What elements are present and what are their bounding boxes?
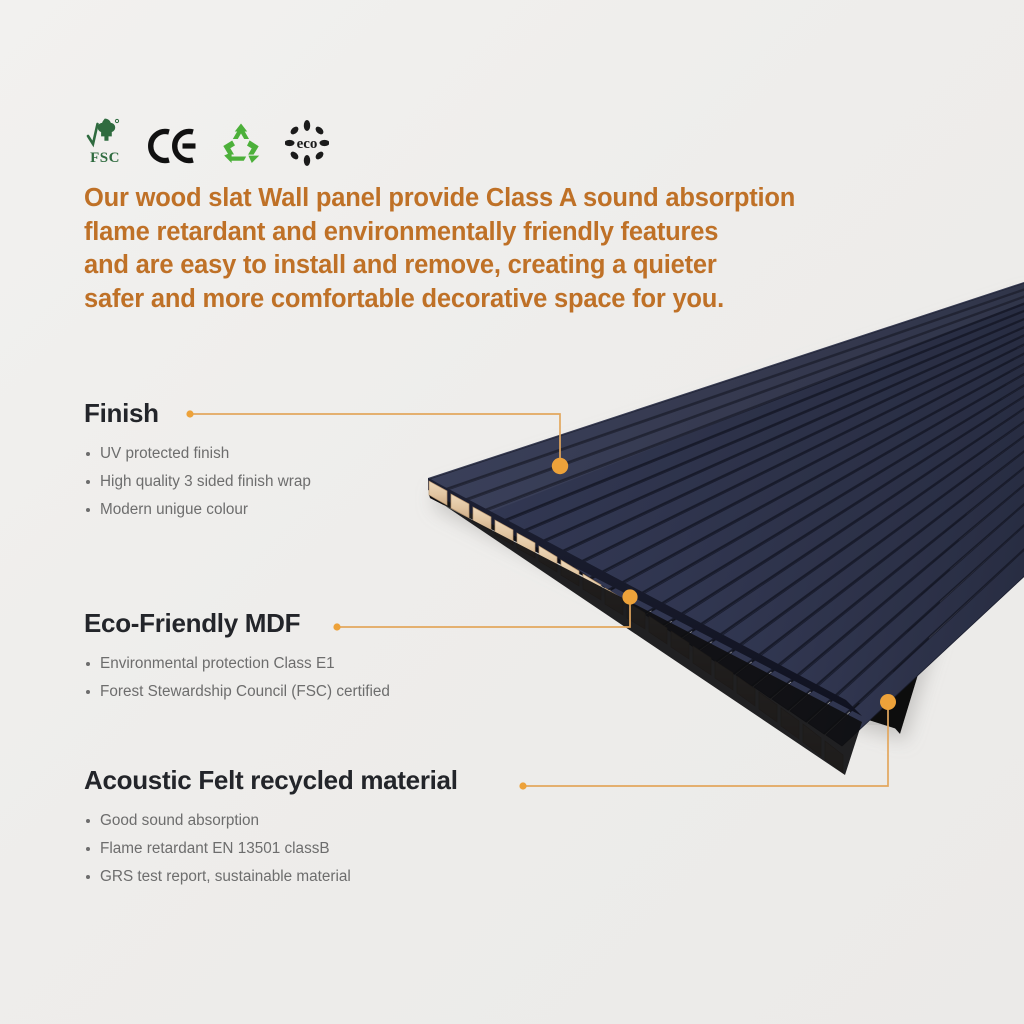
certification-badge-row: FSC — [84, 110, 329, 166]
feature-block-acoustic-felt: Acoustic Felt recycled material Good sou… — [84, 765, 458, 891]
felt-leader-line — [523, 706, 888, 786]
ce-icon — [147, 126, 197, 166]
panel-slats — [428, 280, 1024, 746]
fsc-icon: FSC — [84, 114, 126, 166]
panel-drop-shadow — [436, 290, 1024, 726]
list-item: Flame retardant EN 13501 classB — [84, 835, 458, 863]
feature-title-finish: Finish — [84, 398, 311, 428]
felt-edge-lip — [429, 495, 862, 775]
eco-icon: eco — [285, 120, 329, 166]
list-item: Environmental protection Class E1 — [84, 650, 390, 678]
feature-title-eco-friendly-mdf: Eco-Friendly MDF — [84, 608, 390, 638]
list-item: UV protected finish — [84, 440, 311, 468]
headline-line-1: Our wood slat Wall panel provide Class A… — [84, 182, 824, 216]
mdf-callout-dot — [622, 589, 637, 604]
list-item: Modern unigue colour — [84, 496, 311, 524]
feature-bullets-finish: UV protected finish High quality 3 sided… — [84, 440, 311, 524]
panel-face — [428, 280, 1024, 708]
feature-bullets-eco-friendly-mdf: Environmental protection Class E1 Forest… — [84, 650, 390, 706]
feature-block-finish: Finish UV protected finish High quality … — [84, 398, 311, 524]
recycle-icon — [218, 122, 264, 166]
feature-title-acoustic-felt: Acoustic Felt recycled material — [84, 765, 458, 795]
list-item: GRS test report, sustainable material — [84, 863, 458, 891]
headline-line-2: flame retardant and environmentally frie… — [84, 216, 824, 250]
list-item: Good sound absorption — [84, 807, 458, 835]
felt-backing — [430, 282, 1024, 734]
feature-block-eco-friendly-mdf: Eco-Friendly MDF Environmental protectio… — [84, 608, 390, 706]
finish-callout-dot — [552, 458, 568, 474]
page-headline: Our wood slat Wall panel provide Class A… — [84, 182, 824, 316]
infographic-canvas: FSC — [0, 0, 1024, 1024]
list-item: Forest Stewardship Council (FSC) certifi… — [84, 678, 390, 706]
svg-text:eco: eco — [297, 136, 318, 152]
headline-line-4: safer and more comfortable decorative sp… — [84, 283, 824, 317]
list-item: High quality 3 sided finish wrap — [84, 468, 311, 496]
felt-callout-dot — [880, 694, 896, 710]
felt-leader-origin-dot — [519, 782, 526, 789]
slat-end-caps — [429, 481, 843, 773]
svg-text:FSC: FSC — [90, 150, 120, 166]
panel-near-edge — [428, 478, 862, 716]
headline-line-3: and are easy to install and remove, crea… — [84, 249, 824, 283]
feature-bullets-acoustic-felt: Good sound absorption Flame retardant EN… — [84, 807, 458, 891]
